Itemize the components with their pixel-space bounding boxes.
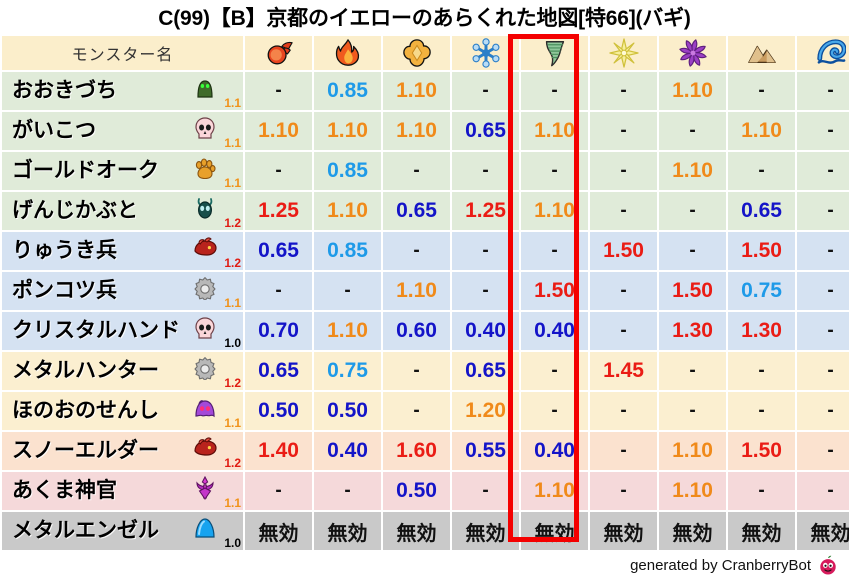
table-row[interactable]: メタルエンゼル 1.0無効無効無効無効無効無効無効無効無効	[2, 512, 849, 550]
resistance-cell: 1.60	[383, 432, 450, 470]
table-row[interactable]: スノーエルダー 1.21.400.401.600.550.40-1.101.50…	[2, 432, 849, 470]
resistance-cell: 1.10	[659, 472, 726, 510]
resistance-cell: 0.65	[452, 352, 519, 390]
resistance-cell: -	[452, 472, 519, 510]
monster-name-label: メタルエンゼル	[12, 512, 159, 550]
resistance-cell: 1.10	[245, 112, 312, 150]
resistance-cell: 1.25	[452, 192, 519, 230]
footer: generated by CranberryBot	[630, 554, 839, 576]
resistance-cell: -	[590, 192, 657, 230]
ion-explosion-icon	[383, 38, 450, 68]
table-row[interactable]: げんじかぶと 1.21.251.100.651.251.10--0.65-	[2, 192, 849, 230]
monster-multiplier: 1.0	[224, 337, 241, 349]
column-header-dorma-dark[interactable]	[659, 36, 726, 70]
resistance-cell: -	[659, 192, 726, 230]
resistance-cell: -	[383, 232, 450, 270]
resistance-cell: 1.30	[659, 312, 726, 350]
column-header-jiba-earth[interactable]	[728, 36, 795, 70]
monster-name-label: りゅうき兵	[12, 232, 117, 270]
resistance-cell: -	[245, 152, 312, 190]
resistance-cell: 1.10	[383, 72, 450, 110]
resistance-cell: 1.50	[590, 232, 657, 270]
column-header-dein-light[interactable]	[590, 36, 657, 70]
resistance-cell: 0.55	[452, 432, 519, 470]
resistance-cell: -	[521, 72, 588, 110]
resistance-cell: 1.10	[728, 112, 795, 150]
resistance-cell: 1.50	[728, 432, 795, 470]
monster-name-cell[interactable]: メタルハンター 1.2	[2, 352, 243, 390]
monster-multiplier: 1.1	[224, 97, 241, 109]
resistance-cell: -	[245, 72, 312, 110]
dorma-dark-icon	[659, 38, 726, 68]
column-header-ion-explosion[interactable]	[383, 36, 450, 70]
resistance-cell: -	[590, 392, 657, 430]
resistance-cell: -	[383, 352, 450, 390]
meragi-fireball-icon	[245, 38, 312, 68]
element-resistance-chart: C(99)【B】京都のイエローのあらくれた地図[特66](バギ) モンスター名	[0, 0, 849, 583]
resistance-cell: 1.10	[659, 152, 726, 190]
pink-skull-icon	[193, 116, 217, 140]
monster-name-label: がいこつ	[12, 112, 96, 150]
resistance-cell: -	[659, 352, 726, 390]
red-dragon-icon	[193, 436, 217, 460]
column-header-zaki-wave[interactable]	[797, 36, 849, 70]
monster-name-label: あくま神官	[12, 472, 117, 510]
resistance-cell: 0.40	[521, 432, 588, 470]
resistance-cell: 1.10	[314, 312, 381, 350]
monster-multiplier: 1.1	[224, 137, 241, 149]
monster-name-label: メタルハンター	[12, 352, 159, 390]
monster-multiplier: 1.2	[224, 257, 241, 269]
table-body: おおきづち 1.1-0.851.10---1.10--がいこつ 1.11.101…	[2, 72, 849, 550]
resistance-cell: 0.40	[314, 432, 381, 470]
monster-name-label: おおきづち	[12, 72, 117, 110]
column-header-bagi-tornado[interactable]	[521, 36, 588, 70]
resistance-cell: -	[521, 392, 588, 430]
table-row[interactable]: クリスタルハンド 1.00.701.100.600.400.40-1.301.3…	[2, 312, 849, 350]
resistance-cell: -	[797, 232, 849, 270]
resistance-cell: -	[797, 152, 849, 190]
column-header-gira-flame[interactable]	[314, 36, 381, 70]
resistance-cell: 無効	[659, 512, 726, 550]
table-header-row: モンスター名	[2, 36, 849, 70]
resistance-cell: -	[314, 272, 381, 310]
monster-name-label: クリスタルハンド	[12, 312, 180, 350]
resistance-cell: 1.10	[521, 112, 588, 150]
jiba-earth-icon	[728, 38, 795, 68]
resistance-cell: -	[590, 112, 657, 150]
page-title: C(99)【B】京都のイエローのあらくれた地図[特66](バギ)	[0, 2, 849, 32]
resistance-cell: 0.85	[314, 232, 381, 270]
resistance-cell: -	[797, 112, 849, 150]
resistance-cell: 0.65	[245, 352, 312, 390]
resistance-cell: -	[659, 232, 726, 270]
column-header-meragi-fireball[interactable]	[245, 36, 312, 70]
monster-name-label: ポンコツ兵	[12, 272, 117, 310]
monster-name-cell[interactable]: クリスタルハンド 1.0	[2, 312, 243, 350]
resistance-cell: 1.50	[521, 272, 588, 310]
resistance-cell: -	[383, 152, 450, 190]
blue-slime-icon	[193, 516, 217, 540]
resistance-cell: 1.40	[245, 432, 312, 470]
resistance-cell: 1.20	[452, 392, 519, 430]
pink-skull-icon	[193, 316, 217, 340]
dein-light-icon	[590, 38, 657, 68]
resistance-cell: 0.50	[383, 472, 450, 510]
resistance-cell: 1.10	[383, 112, 450, 150]
resistance-cell: 0.70	[245, 312, 312, 350]
zaki-wave-icon	[797, 38, 849, 68]
table-row[interactable]: ほのおのせんし 1.10.500.50-1.20-----	[2, 392, 849, 430]
table-row[interactable]: ゴールドオーク 1.1-0.85----1.10--	[2, 152, 849, 190]
resistance-cell: 1.30	[728, 312, 795, 350]
purple-trident-icon	[193, 476, 217, 500]
resistance-cell: 無効	[452, 512, 519, 550]
resistance-cell: -	[521, 232, 588, 270]
resistance-cell: 1.45	[590, 352, 657, 390]
resistance-cell: 0.50	[314, 392, 381, 430]
resistance-cell: 0.40	[521, 312, 588, 350]
table-row[interactable]: ポンコツ兵 1.1--1.10-1.50-1.500.75-	[2, 272, 849, 310]
resistance-cell: 無効	[383, 512, 450, 550]
resistance-cell: 無効	[245, 512, 312, 550]
bagi-tornado-icon	[521, 38, 588, 68]
monster-name-cell[interactable]: メタルエンゼル 1.0	[2, 512, 243, 550]
resistance-cell: -	[728, 72, 795, 110]
monster-name-cell[interactable]: ポンコツ兵 1.1	[2, 272, 243, 310]
resistance-cell: 1.10	[659, 432, 726, 470]
resistance-cell: 0.65	[245, 232, 312, 270]
resistance-cell: 0.60	[383, 312, 450, 350]
beetle-icon	[193, 196, 217, 220]
resistance-cell: -	[521, 352, 588, 390]
resistance-cell: -	[452, 232, 519, 270]
resistance-cell: -	[659, 112, 726, 150]
resistance-cell: 1.10	[314, 112, 381, 150]
column-header-hyado-ice[interactable]	[452, 36, 519, 70]
resistance-cell: -	[797, 312, 849, 350]
resistance-cell: 無効	[728, 512, 795, 550]
resistance-cell: -	[383, 392, 450, 430]
gear-icon	[193, 276, 217, 300]
resistance-cell: 1.50	[728, 232, 795, 270]
resistance-cell: -	[452, 152, 519, 190]
monster-name-label: ほのおのせんし	[12, 392, 159, 430]
resistance-cell: -	[590, 432, 657, 470]
resistance-cell: -	[659, 392, 726, 430]
resistance-cell: -	[797, 352, 849, 390]
monster-multiplier: 1.0	[224, 537, 241, 549]
resistance-cell: -	[590, 272, 657, 310]
resistance-cell: -	[590, 472, 657, 510]
resistance-cell: -	[245, 472, 312, 510]
resistance-cell: -	[521, 152, 588, 190]
resistance-cell: 無効	[314, 512, 381, 550]
monster-name-cell[interactable]: おおきづち 1.1	[2, 72, 243, 110]
monster-name-cell[interactable]: げんじかぶと 1.2	[2, 192, 243, 230]
header-monster-name: モンスター名	[2, 36, 243, 70]
monster-name-label: ゴールドオーク	[12, 152, 159, 190]
resistance-cell: -	[314, 472, 381, 510]
gold-paw-icon	[193, 156, 217, 180]
resistance-cell: -	[728, 392, 795, 430]
resistance-cell: -	[797, 392, 849, 430]
monster-name-cell[interactable]: スノーエルダー 1.2	[2, 432, 243, 470]
monster-multiplier: 1.1	[224, 497, 241, 509]
monster-name-cell[interactable]: ゴールドオーク 1.1	[2, 152, 243, 190]
resistance-cell: -	[728, 152, 795, 190]
cranberry-icon	[817, 554, 839, 576]
resistance-cell: -	[590, 72, 657, 110]
monster-name-cell[interactable]: りゅうき兵 1.2	[2, 232, 243, 270]
monster-name-cell[interactable]: あくま神官 1.1	[2, 472, 243, 510]
resistance-cell: 1.10	[659, 72, 726, 110]
green-golem-icon	[193, 76, 217, 100]
monster-multiplier: 1.2	[224, 217, 241, 229]
monster-name-cell[interactable]: がいこつ 1.1	[2, 112, 243, 150]
resistance-cell: 0.75	[728, 272, 795, 310]
red-dragon-icon	[193, 236, 217, 260]
resistance-cell: 無効	[521, 512, 588, 550]
hyado-ice-icon	[452, 38, 519, 68]
resistance-cell: -	[452, 272, 519, 310]
table-row[interactable]: がいこつ 1.11.101.101.100.651.10--1.10-	[2, 112, 849, 150]
resistance-cell: 1.25	[245, 192, 312, 230]
resistance-cell: -	[797, 272, 849, 310]
resistance-cell: -	[245, 272, 312, 310]
resistance-cell: 0.65	[452, 112, 519, 150]
monster-multiplier: 1.1	[224, 297, 241, 309]
resistance-cell: 0.40	[452, 312, 519, 350]
resistance-cell: 無効	[590, 512, 657, 550]
monster-name-label: スノーエルダー	[12, 432, 159, 470]
resistance-cell: -	[728, 352, 795, 390]
resistance-cell: -	[452, 72, 519, 110]
resistance-cell: 0.85	[314, 72, 381, 110]
gira-flame-icon	[314, 38, 381, 68]
resistance-cell: 1.10	[521, 472, 588, 510]
resistance-cell: 0.50	[245, 392, 312, 430]
resistance-cell: 0.75	[314, 352, 381, 390]
resistance-cell: 0.65	[728, 192, 795, 230]
monster-multiplier: 1.2	[224, 377, 241, 389]
monster-name-label: げんじかぶと	[12, 192, 138, 230]
resistance-cell: 1.10	[521, 192, 588, 230]
table-row[interactable]: あくま神官 1.1--0.50-1.10-1.10--	[2, 472, 849, 510]
resistance-cell: 0.65	[383, 192, 450, 230]
monster-multiplier: 1.1	[224, 417, 241, 429]
resistance-cell: -	[590, 152, 657, 190]
resistance-cell: -	[797, 432, 849, 470]
purple-ghost-icon	[193, 396, 217, 420]
resistance-cell: -	[797, 72, 849, 110]
resistance-table: モンスター名	[0, 34, 849, 552]
footer-credit: generated by CranberryBot	[630, 557, 811, 574]
resistance-cell: 1.10	[314, 192, 381, 230]
monster-multiplier: 1.1	[224, 177, 241, 189]
monster-multiplier: 1.2	[224, 457, 241, 469]
resistance-cell: 1.50	[659, 272, 726, 310]
table-row[interactable]: りゅうき兵 1.20.650.85---1.50-1.50-	[2, 232, 849, 270]
resistance-cell: -	[728, 472, 795, 510]
gear-icon	[193, 356, 217, 380]
resistance-cell: 0.85	[314, 152, 381, 190]
resistance-cell: 無効	[797, 512, 849, 550]
resistance-cell: 1.10	[383, 272, 450, 310]
resistance-cell: -	[797, 472, 849, 510]
table-row[interactable]: おおきづち 1.1-0.851.10---1.10--	[2, 72, 849, 110]
monster-name-cell[interactable]: ほのおのせんし 1.1	[2, 392, 243, 430]
resistance-cell: -	[797, 192, 849, 230]
resistance-cell: -	[590, 312, 657, 350]
table-row[interactable]: メタルハンター 1.20.650.75-0.65-1.45---	[2, 352, 849, 390]
